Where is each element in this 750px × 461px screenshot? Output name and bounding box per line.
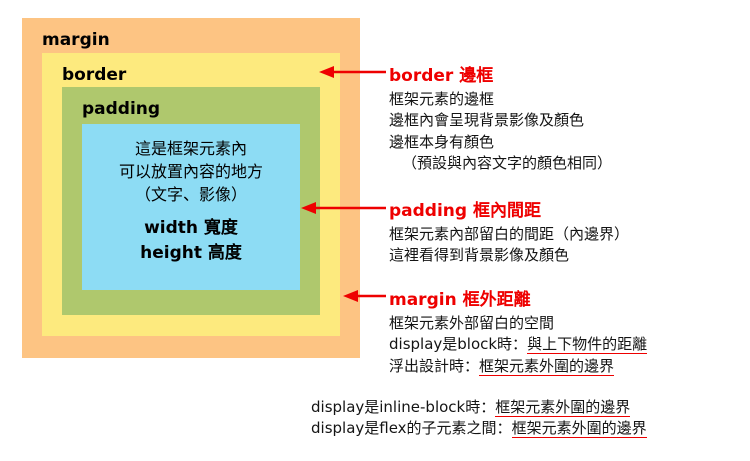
annotation-margin-rule-4-underlined: 框架元素外圍的邊界 <box>512 419 647 438</box>
content-width-label: width 寬度 <box>144 216 238 242</box>
annotation-margin-rule-4: display是flex的子元素之間：框架元素外圍的邊界 <box>311 418 647 439</box>
annotation-body-margin-extra: display是inline-block時：框架元素外圍的邊界 display是… <box>311 397 647 440</box>
arrow-to-border-icon <box>316 65 388 79</box>
content-box: 這是框架元素內 可以放置內容的地方 （文字、影像） width 寬度 heigh… <box>82 124 300 290</box>
annotation-border-line-1: 框架元素的邊框 <box>389 89 612 110</box>
annotation-padding-line-1: 框架元素內部留白的間距（內邊界） <box>389 224 629 245</box>
annotation-body-border: 框架元素的邊框 邊框內會呈現背景影像及顏色 邊框本身有顏色 （預設與內容文字的顏… <box>389 89 612 175</box>
content-text-line-3: （文字、影像） <box>135 183 247 206</box>
annotation-heading-margin: margin 框外距離 <box>389 285 531 310</box>
content-height-label: height 高度 <box>140 241 242 267</box>
annotation-border-line-2: 邊框內會呈現背景影像及顏色 <box>389 110 612 131</box>
arrow-to-padding-icon <box>298 201 388 215</box>
annotation-margin-rule-1-prefix: display是block時： <box>389 335 527 353</box>
annotation-margin-rule-3-underlined: 框架元素外圍的邊界 <box>495 398 630 417</box>
annotation-margin-rule-2-prefix: 浮出設計時： <box>389 357 479 375</box>
margin-box-label: margin <box>42 32 110 49</box>
padding-box-label: padding <box>82 101 160 118</box>
box-model-diagram: margin border padding 這是框架元素內 可以放置內容的地方 … <box>22 18 360 358</box>
annotation-margin-rule-2-underlined: 框架元素外圍的邊界 <box>479 357 614 376</box>
annotation-border-line-3: 邊框本身有顏色 <box>389 132 612 153</box>
annotation-body-padding: 框架元素內部留白的間距（內邊界） 這裡看得到背景影像及顏色 <box>389 224 629 267</box>
border-box: border padding 這是框架元素內 可以放置內容的地方 （文字、影像）… <box>42 53 340 336</box>
border-box-label: border <box>62 67 126 84</box>
annotation-padding-line-2: 這裡看得到背景影像及顏色 <box>389 245 629 266</box>
arrow-to-margin-icon <box>340 289 388 303</box>
margin-box: margin border padding 這是框架元素內 可以放置內容的地方 … <box>22 18 360 358</box>
annotation-body-margin: 框架元素外部留白的空間 display是block時：與上下物件的距離 浮出設計… <box>389 313 647 377</box>
annotation-margin-rule-4-prefix: display是flex的子元素之間： <box>311 419 512 437</box>
annotation-margin-rule-2: 浮出設計時：框架元素外圍的邊界 <box>389 356 647 377</box>
content-text-line-1: 這是框架元素內 <box>135 137 247 160</box>
annotation-margin-rule-1: display是block時：與上下物件的距離 <box>389 334 647 355</box>
padding-box: padding 這是框架元素內 可以放置內容的地方 （文字、影像） width … <box>62 87 320 315</box>
annotation-heading-padding: padding 框內間距 <box>389 196 541 221</box>
content-text-line-2: 可以放置內容的地方 <box>119 160 263 183</box>
annotation-margin-rule-3: display是inline-block時：框架元素外圍的邊界 <box>311 397 647 418</box>
annotation-margin-line-1: 框架元素外部留白的空間 <box>389 313 647 334</box>
annotation-margin-rule-3-prefix: display是inline-block時： <box>311 398 495 416</box>
annotation-border-line-4: （預設與內容文字的顏色相同） <box>389 153 612 174</box>
annotation-margin-rule-1-underlined: 與上下物件的距離 <box>527 335 647 354</box>
annotation-heading-border: border 邊框 <box>389 61 493 86</box>
